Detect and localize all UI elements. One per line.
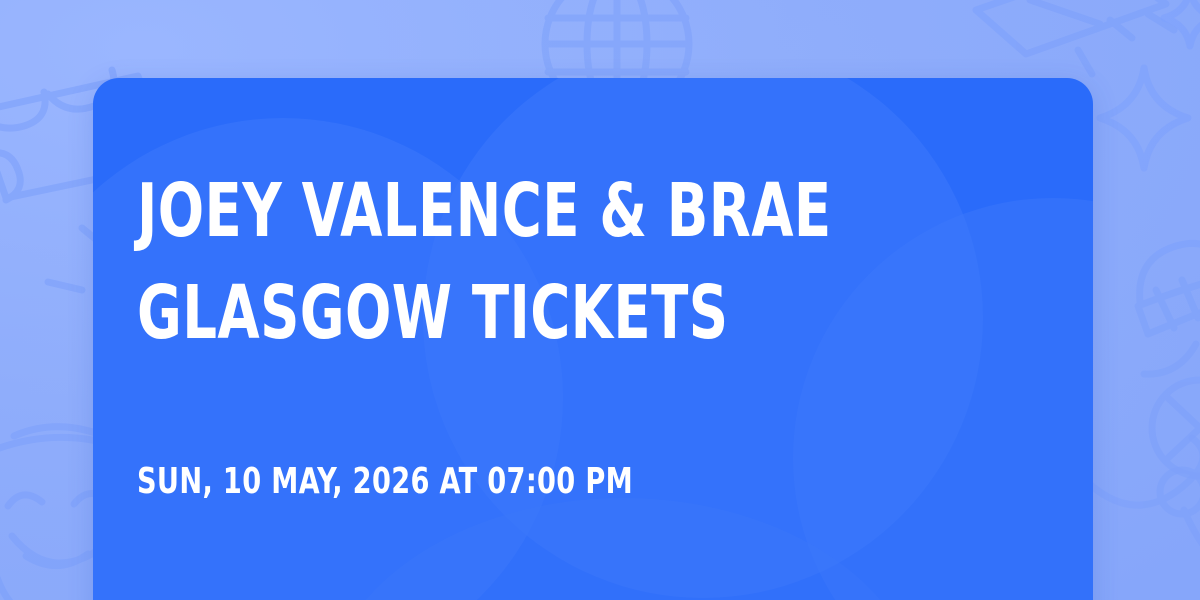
event-card: Joey Valence & Brae Glasgow Tickets Sun,… (93, 78, 1093, 600)
event-card-content: Joey Valence & Brae Glasgow Tickets Sun,… (137, 78, 1053, 600)
event-title: Joey Valence & Brae Glasgow Tickets (137, 160, 883, 364)
sparkle-icon (1160, 0, 1200, 50)
microphone-icon (1100, 232, 1200, 432)
event-date: Sun, 10 May, 2026 at 07:00 PM (137, 460, 633, 504)
event-banner: Joey Valence & Brae Glasgow Tickets Sun,… (0, 0, 1200, 600)
drum-icon (1140, 376, 1200, 516)
sparkle-icon (1090, 60, 1195, 175)
